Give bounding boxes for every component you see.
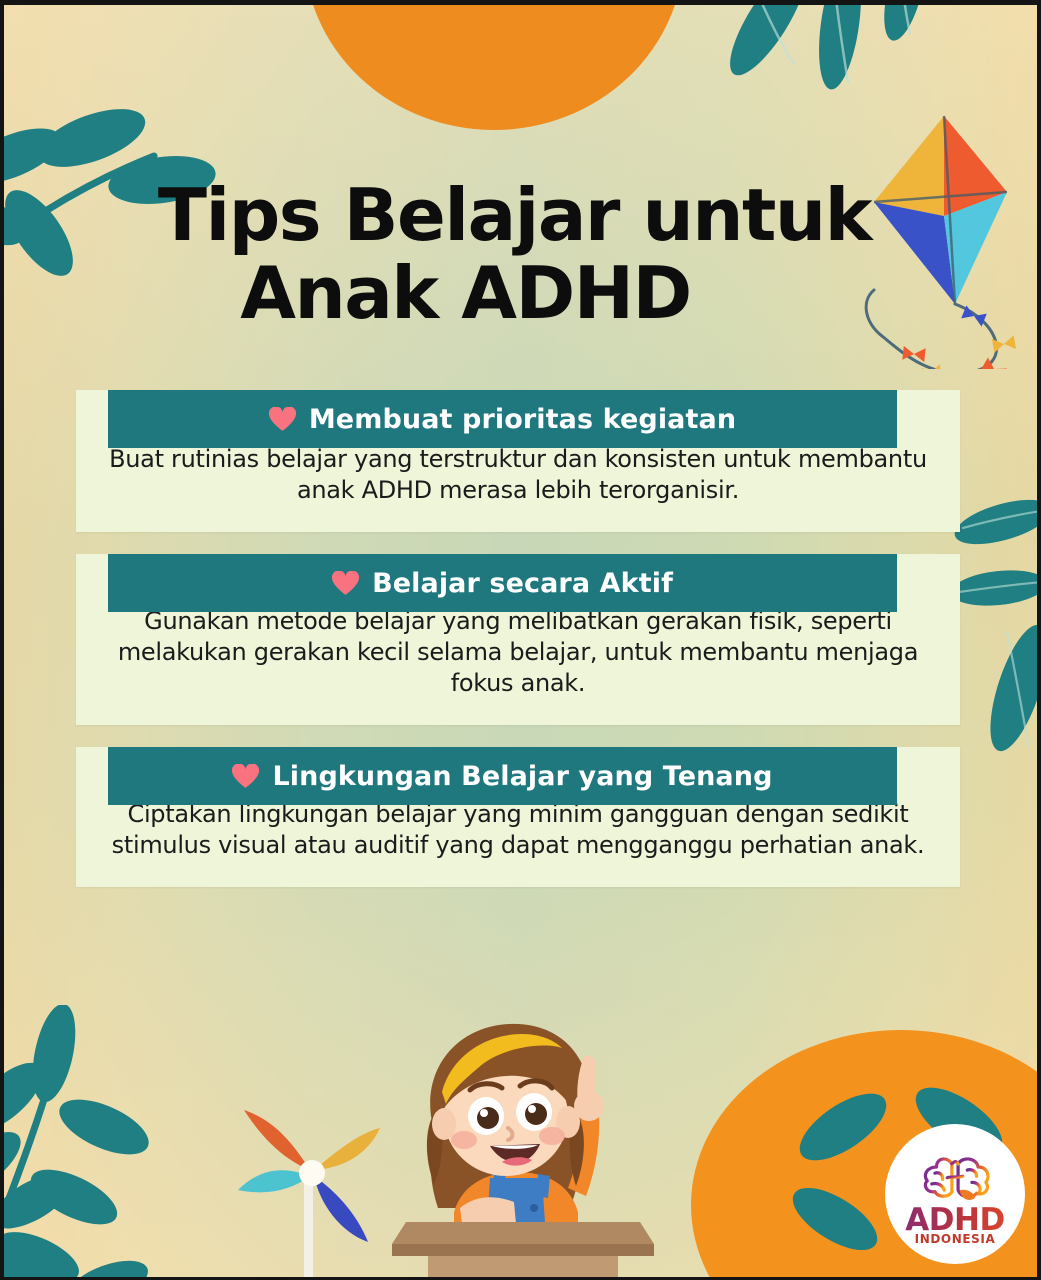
tip-card-header: Belajar secara Aktif <box>108 554 897 612</box>
infographic-poster: Tips Belajar untuk Anak ADHD Membuat pri… <box>0 0 1041 1280</box>
tip-card-heading: Membuat prioritas kegiatan <box>309 404 736 435</box>
logo-title: ADHD <box>905 1205 1004 1235</box>
tip-card-text: Ciptakan lingkungan belajar yang minim g… <box>102 799 934 861</box>
adhd-indonesia-logo: ADHD INDONESIA <box>885 1124 1025 1264</box>
tip-card-header: Membuat prioritas kegiatan <box>108 390 897 448</box>
tip-card: Membuat prioritas kegiatan Buat rutinias… <box>0 390 1041 532</box>
tip-card-text: Gunakan metode belajar yang melibatkan g… <box>102 606 934 699</box>
heart-icon <box>332 571 359 596</box>
tip-card-text: Buat rutinias belajar yang terstruktur d… <box>102 444 934 506</box>
tip-card-heading: Belajar secara Aktif <box>372 568 673 599</box>
logo-subtitle: INDONESIA <box>915 1232 996 1246</box>
title-line-2: Anak ADHD <box>0 254 1041 332</box>
orange-circle-top <box>304 0 684 130</box>
leaf-branch-icon <box>0 1155 190 1280</box>
brain-icon <box>916 1150 994 1204</box>
logo-content: ADHD INDONESIA <box>885 1124 1025 1264</box>
title-line-1: Tips Belajar untuk <box>0 176 1041 254</box>
tip-card: Belajar secara Aktif Gunakan metode bela… <box>0 554 1041 725</box>
tip-card-heading: Lingkungan Belajar yang Tenang <box>272 761 772 792</box>
desk-illustration <box>392 1222 654 1280</box>
tip-card: Lingkungan Belajar yang Tenang Ciptakan … <box>0 747 1041 887</box>
girl-illustration <box>382 1012 652 1247</box>
left-edge <box>0 0 4 1280</box>
tip-card-header: Lingkungan Belajar yang Tenang <box>108 747 897 805</box>
heart-icon <box>269 407 296 432</box>
pinwheel-icon <box>222 1090 402 1280</box>
tips-card-list: Membuat prioritas kegiatan Buat rutinias… <box>0 390 1041 909</box>
heart-icon <box>232 764 259 789</box>
right-edge <box>1037 0 1041 1280</box>
poster-title: Tips Belajar untuk Anak ADHD <box>0 176 1041 332</box>
top-bar <box>0 0 1041 5</box>
